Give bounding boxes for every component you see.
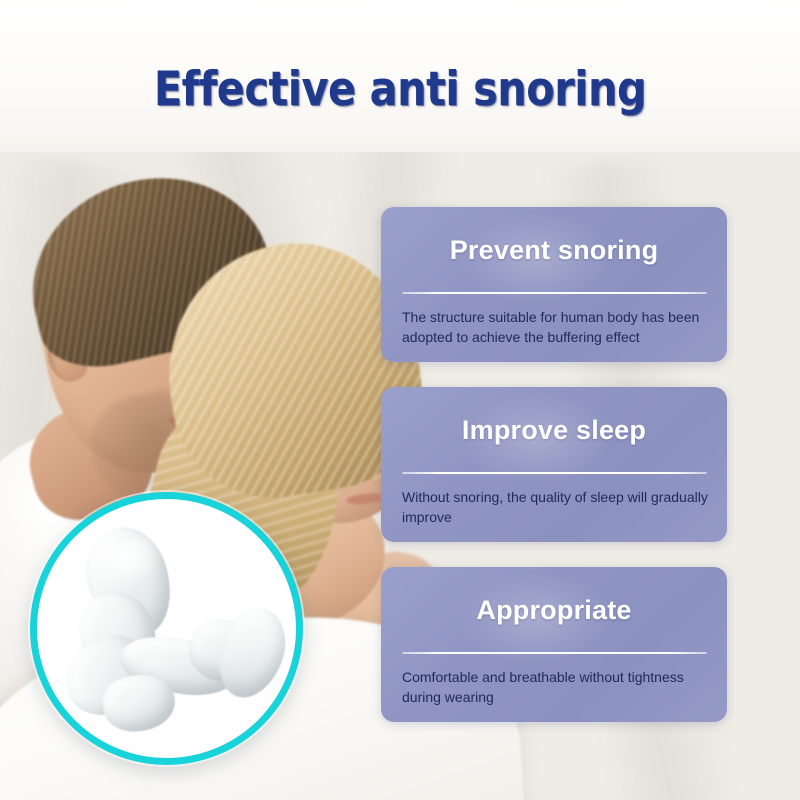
anti-snoring-device-image <box>37 499 296 758</box>
card-divider <box>402 292 707 294</box>
lifestyle-photo: Prevent snoring The structure suitable f… <box>0 152 800 800</box>
page-title: Effective anti snoring <box>48 66 752 113</box>
feature-card-title: Improve sleep <box>381 417 727 444</box>
feature-card-title: Prevent snoring <box>381 237 727 264</box>
feature-card-body: Without snoring, the quality of sleep wi… <box>402 487 712 528</box>
feature-card-improve-sleep[interactable]: Improve sleep Without snoring, the quali… <box>381 387 727 542</box>
feature-card-prevent-snoring[interactable]: Prevent snoring The structure suitable f… <box>381 207 727 362</box>
card-divider <box>402 652 707 654</box>
product-detail-circle <box>30 492 303 765</box>
card-divider <box>402 472 707 474</box>
feature-card-appropriate[interactable]: Appropriate Comfortable and breathable w… <box>381 567 727 722</box>
product-marketing-banner: Effective anti snoring <box>0 0 800 800</box>
feature-card-body: Comfortable and breathable without tight… <box>402 667 712 708</box>
header-band: Effective anti snoring <box>0 0 800 152</box>
feature-card-body: The structure suitable for human body ha… <box>402 307 712 348</box>
feature-card-title: Appropriate <box>381 597 727 624</box>
